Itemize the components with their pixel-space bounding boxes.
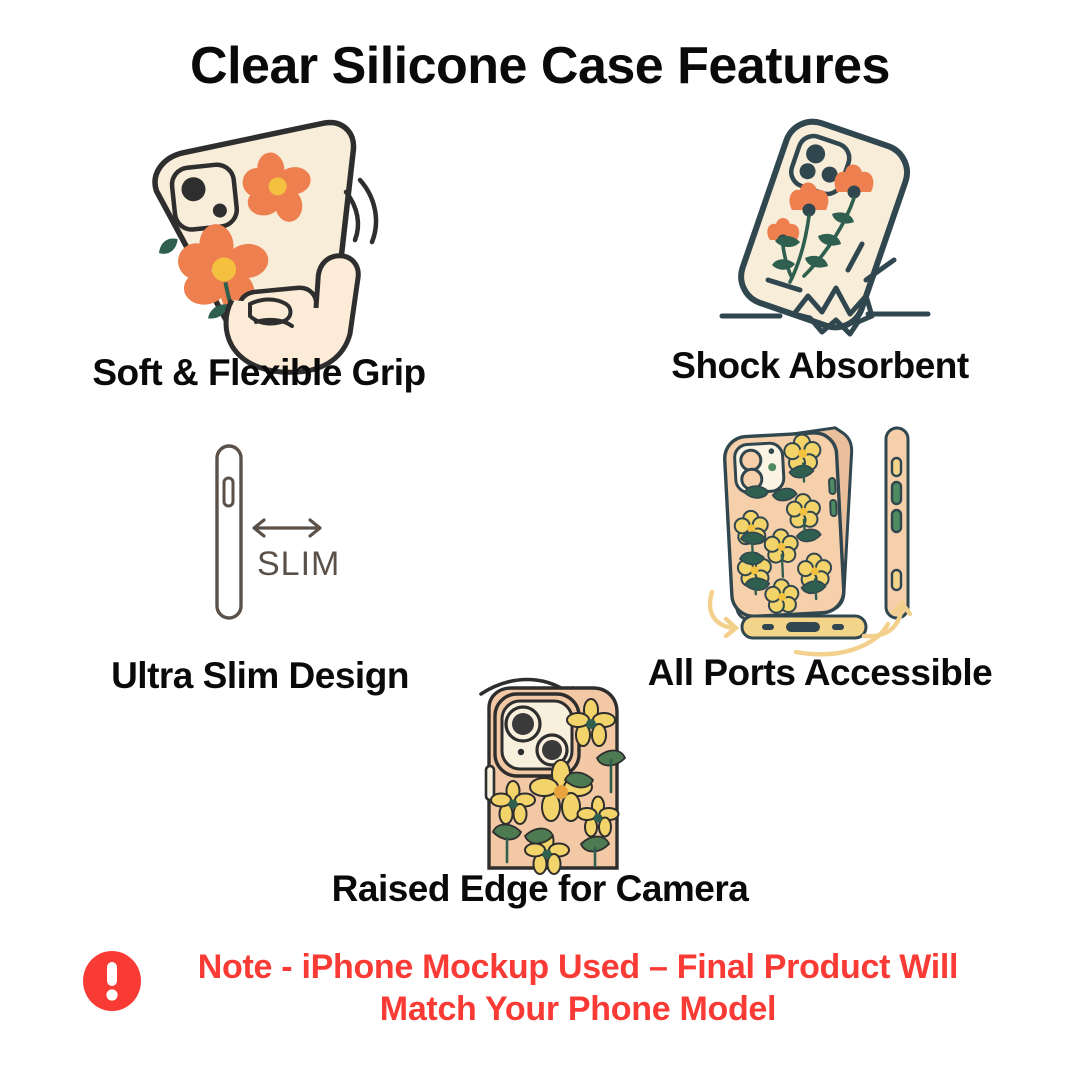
page-title: Clear Silicone Case Features xyxy=(0,36,1080,96)
illustration-shock-absorbent xyxy=(700,118,950,348)
phone-side-profile xyxy=(217,446,241,618)
illustration-raised-edge-for-camera xyxy=(455,662,645,862)
note-banner: Note - iPhone Mockup Used – Final Produc… xyxy=(0,946,1080,1030)
floral-case-back xyxy=(723,427,860,621)
width-arrow xyxy=(254,520,320,536)
exclamation-circle-icon xyxy=(82,950,142,1012)
note-text: Note - iPhone Mockup Used – Final Produc… xyxy=(158,946,998,1030)
slim-caption: SLIM xyxy=(257,545,340,583)
feature-label-shock-absorbent: Shock Absorbent xyxy=(560,345,1080,387)
side-button xyxy=(224,478,233,506)
phone-bottom-edge xyxy=(742,616,866,638)
illustration-soft-flexible-grip xyxy=(120,118,410,353)
feature-label-ultra-slim-design: Ultra Slim Design xyxy=(0,655,520,697)
side-button xyxy=(486,766,494,800)
feature-label-soft-flexible-grip: Soft & Flexible Grip xyxy=(0,352,518,394)
infographic-canvas: Clear Silicone Case Features xyxy=(0,0,1080,1080)
phone-side-rail xyxy=(886,428,908,618)
feature-label-raised-edge-for-camera: Raised Edge for Camera xyxy=(0,868,1080,910)
camera-module xyxy=(170,163,238,231)
illustration-ultra-slim-design: SLIM xyxy=(185,430,365,630)
illustration-all-ports-accessible xyxy=(700,420,935,655)
